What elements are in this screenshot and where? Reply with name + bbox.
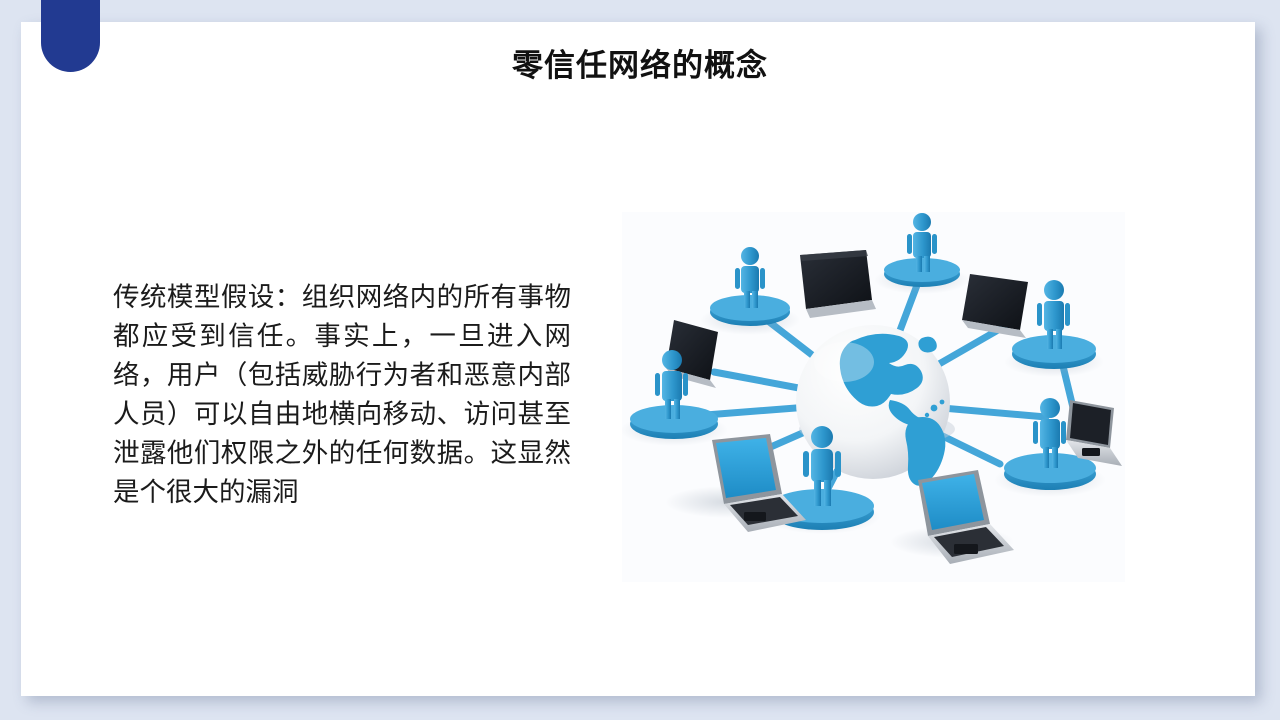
globe-network-illustration xyxy=(622,212,1125,582)
globe-network-svg xyxy=(622,212,1125,582)
monitor-top-right xyxy=(962,274,1028,338)
page-title: 零信任网络的概念 xyxy=(0,47,1280,84)
slide-root: 零信任网络的概念 传统模型假设：组织网络内的所有事物都应受到信任。事实上，一旦进… xyxy=(0,0,1280,720)
body-paragraph: 传统模型假设：组织网络内的所有事物都应受到信任。事实上，一旦进入网络，用户（包括… xyxy=(113,278,571,512)
monitor-top-left xyxy=(800,250,876,318)
